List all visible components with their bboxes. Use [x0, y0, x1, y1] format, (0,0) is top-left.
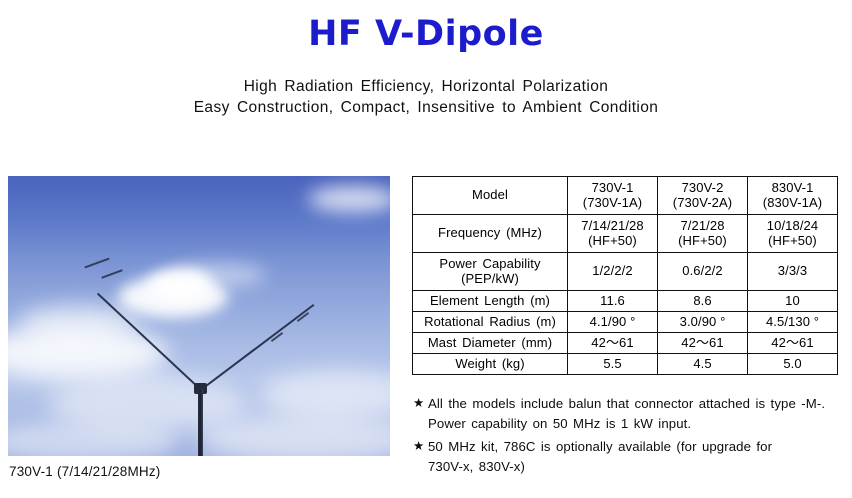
row-value: 3.0/90 ° — [658, 312, 748, 333]
note-line-2: Power capability on 50 MHz is 1 kW input… — [428, 414, 838, 434]
row-value: 42〜61 — [748, 333, 838, 354]
antenna-photo — [8, 176, 390, 456]
row-value: 4.5/130 ° — [748, 312, 838, 333]
notes-block: ★ All the models include balun that conn… — [413, 394, 838, 480]
row-value: 42〜61 — [568, 333, 658, 354]
subtitle-block: High Radiation Efficiency, Horizontal Po… — [0, 76, 852, 118]
page-title: HF V-Dipole — [0, 14, 852, 54]
row-value: 10 — [748, 291, 838, 312]
row-value: 5.0 — [748, 354, 838, 375]
row-label-mast-diameter: Mast Diameter (mm) — [413, 333, 568, 354]
star-icon: ★ — [413, 437, 424, 457]
row-label-frequency: Frequency (MHz) — [413, 215, 568, 253]
table-row: Weight (kg) 5.5 4.5 5.0 — [413, 354, 838, 375]
table-header-model: Model — [413, 177, 568, 215]
row-label-element-length: Element Length (m) — [413, 291, 568, 312]
specification-table: Model 730V-1 (730V-1A) 730V-2 (730V-2A) … — [412, 176, 838, 375]
table-row: Power Capability (PEP/kW) 1/2/2/2 0.6/2/… — [413, 253, 838, 291]
subtitle-line-1: High Radiation Efficiency, Horizontal Po… — [0, 76, 852, 97]
row-value: 10/18/24 (HF+50) — [748, 215, 838, 253]
cloud-shape — [308, 186, 390, 212]
cloud-shape — [176, 264, 266, 286]
cloud-shape — [18, 304, 138, 344]
note-item: ★ 50 MHz kit, 786C is optionally availab… — [413, 437, 838, 476]
table-row: Frequency (MHz) 7/14/21/28 (HF+50) 7/21/… — [413, 215, 838, 253]
table-header-col-2: 730V-2 (730V-2A) — [658, 177, 748, 215]
antenna-mast — [198, 389, 203, 456]
note-line-1: All the models include balun that connec… — [428, 394, 838, 414]
table-row: Rotational Radius (m) 4.1/90 ° 3.0/90 ° … — [413, 312, 838, 333]
row-label-weight: Weight (kg) — [413, 354, 568, 375]
row-value: 7/14/21/28 (HF+50) — [568, 215, 658, 253]
note-line-2: 730V-x, 830V-x) — [428, 457, 838, 477]
row-value: 4.5 — [658, 354, 748, 375]
row-value: 4.1/90 ° — [568, 312, 658, 333]
row-label-rotational-radius: Rotational Radius (m) — [413, 312, 568, 333]
photo-caption: 730V-1 (7/14/21/28MHz) — [9, 464, 160, 479]
table-row: Element Length (m) 11.6 8.6 10 — [413, 291, 838, 312]
note-line-1: 50 MHz kit, 786C is optionally available… — [428, 437, 838, 457]
table-header-row: Model 730V-1 (730V-1A) 730V-2 (730V-2A) … — [413, 177, 838, 215]
subtitle-line-2: Easy Construction, Compact, Insensitive … — [0, 97, 852, 118]
row-label-power-capability: Power Capability (PEP/kW) — [413, 253, 568, 291]
row-value: 42〜61 — [658, 333, 748, 354]
row-value: 7/21/28 (HF+50) — [658, 215, 748, 253]
row-value: 5.5 — [568, 354, 658, 375]
row-value: 11.6 — [568, 291, 658, 312]
table-header-col-1: 730V-1 (730V-1A) — [568, 177, 658, 215]
table-header-col-3: 830V-1 (830V-1A) — [748, 177, 838, 215]
row-value: 3/3/3 — [748, 253, 838, 291]
star-icon: ★ — [413, 394, 424, 414]
row-value: 1/2/2/2 — [568, 253, 658, 291]
row-value: 8.6 — [658, 291, 748, 312]
table-row: Mast Diameter (mm) 42〜61 42〜61 42〜61 — [413, 333, 838, 354]
row-value: 0.6/2/2 — [658, 253, 748, 291]
note-item: ★ All the models include balun that conn… — [413, 394, 838, 433]
